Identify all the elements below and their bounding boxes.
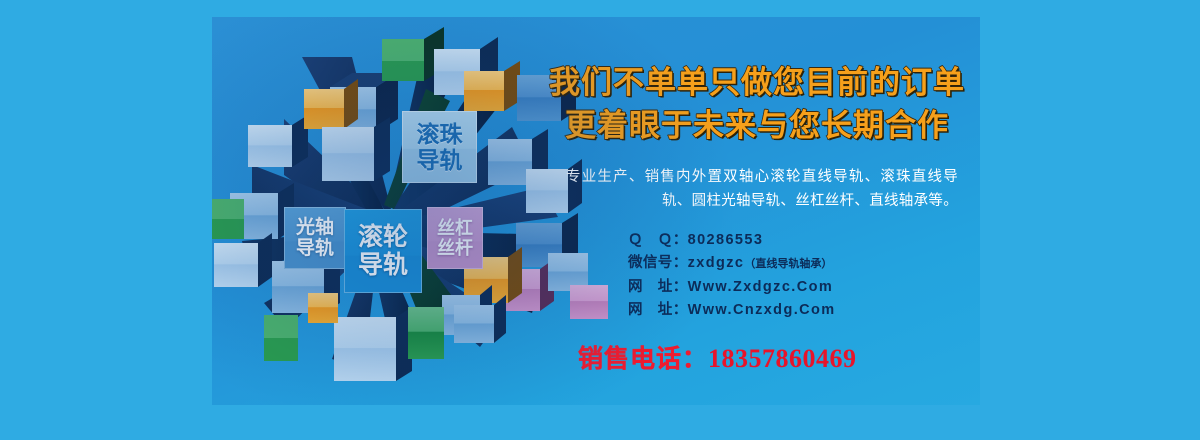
wechat-value: zxdgzc <box>688 255 745 271</box>
company-description: 专业生产、销售内外置双轴心滚轮直线导轨、滚珠直线导轨、圆柱光轴导轨、丝杠丝杆、直… <box>542 165 972 213</box>
cube-label-line1: 丝杠 <box>437 218 473 238</box>
cube-label-line1: 滚轮 <box>358 223 408 251</box>
sales-phone-number: 18357860469 <box>708 344 857 373</box>
banner-panel: 滚珠 导轨 光轴 导轨 滚轮 导轨 丝杠 丝杆 我们不单单只做您目前的订单 更着… <box>212 17 980 405</box>
website-2-label: 网 址： <box>628 299 688 322</box>
qq-label: Ｑ Ｑ： <box>628 229 688 252</box>
qq-value: 80286553 <box>688 232 764 248</box>
website-2-value[interactable]: Www.Cnzxdg.Com <box>688 302 836 318</box>
cube-label-guangzhou-daogui: 光轴 导轨 <box>284 207 346 269</box>
promo-banner: 滚珠 导轨 光轴 导轨 滚轮 导轨 丝杠 丝杆 我们不单单只做您目前的订单 更着… <box>0 0 1200 440</box>
headline-line-1: 我们不单单只做您目前的订单 <box>542 62 972 103</box>
sales-phone: 销售电话：18357860469 <box>542 339 972 375</box>
sales-phone-label: 销售电话： <box>578 345 708 373</box>
contact-row-qq: Ｑ Ｑ：80286553 <box>628 229 972 252</box>
website-1-label: 网 址： <box>628 276 688 299</box>
banner-copy: 我们不单单只做您目前的订单 更着眼于未来与您长期合作 专业生产、销售内外置双轴心… <box>542 33 972 393</box>
cube-label-line2: 丝杆 <box>437 238 473 258</box>
cube-label-line1: 光轴 <box>296 217 334 238</box>
wechat-note: （直线导轨轴承） <box>744 258 832 270</box>
headline-line-2: 更着眼于未来与您长期合作 <box>542 105 972 146</box>
cube-label-line1: 滚珠 <box>417 121 463 147</box>
cube-label-line2: 导轨 <box>296 238 334 259</box>
cube-label-sigang-sigan: 丝杠 丝杆 <box>427 207 483 269</box>
contact-row-website-2: 网 址：Www.Cnzxdg.Com <box>628 299 972 322</box>
cube-label-line2: 导轨 <box>417 147 463 173</box>
website-1-value[interactable]: Www.Zxdgzc.Com <box>688 279 834 295</box>
contact-block: Ｑ Ｑ：80286553 微信号：zxdgzc（直线导轨轴承） 网 址：Www.… <box>542 229 972 322</box>
contact-row-website-1: 网 址：Www.Zxdgzc.Com <box>628 276 972 299</box>
wechat-label: 微信号： <box>628 252 688 275</box>
cube-label-gunzhu-daogui: 滚珠 导轨 <box>402 111 477 183</box>
contact-row-wechat: 微信号：zxdgzc（直线导轨轴承） <box>628 252 972 276</box>
cube-label-gunlun-daogui: 滚轮 导轨 <box>344 209 422 293</box>
cube-label-line2: 导轨 <box>358 251 408 279</box>
